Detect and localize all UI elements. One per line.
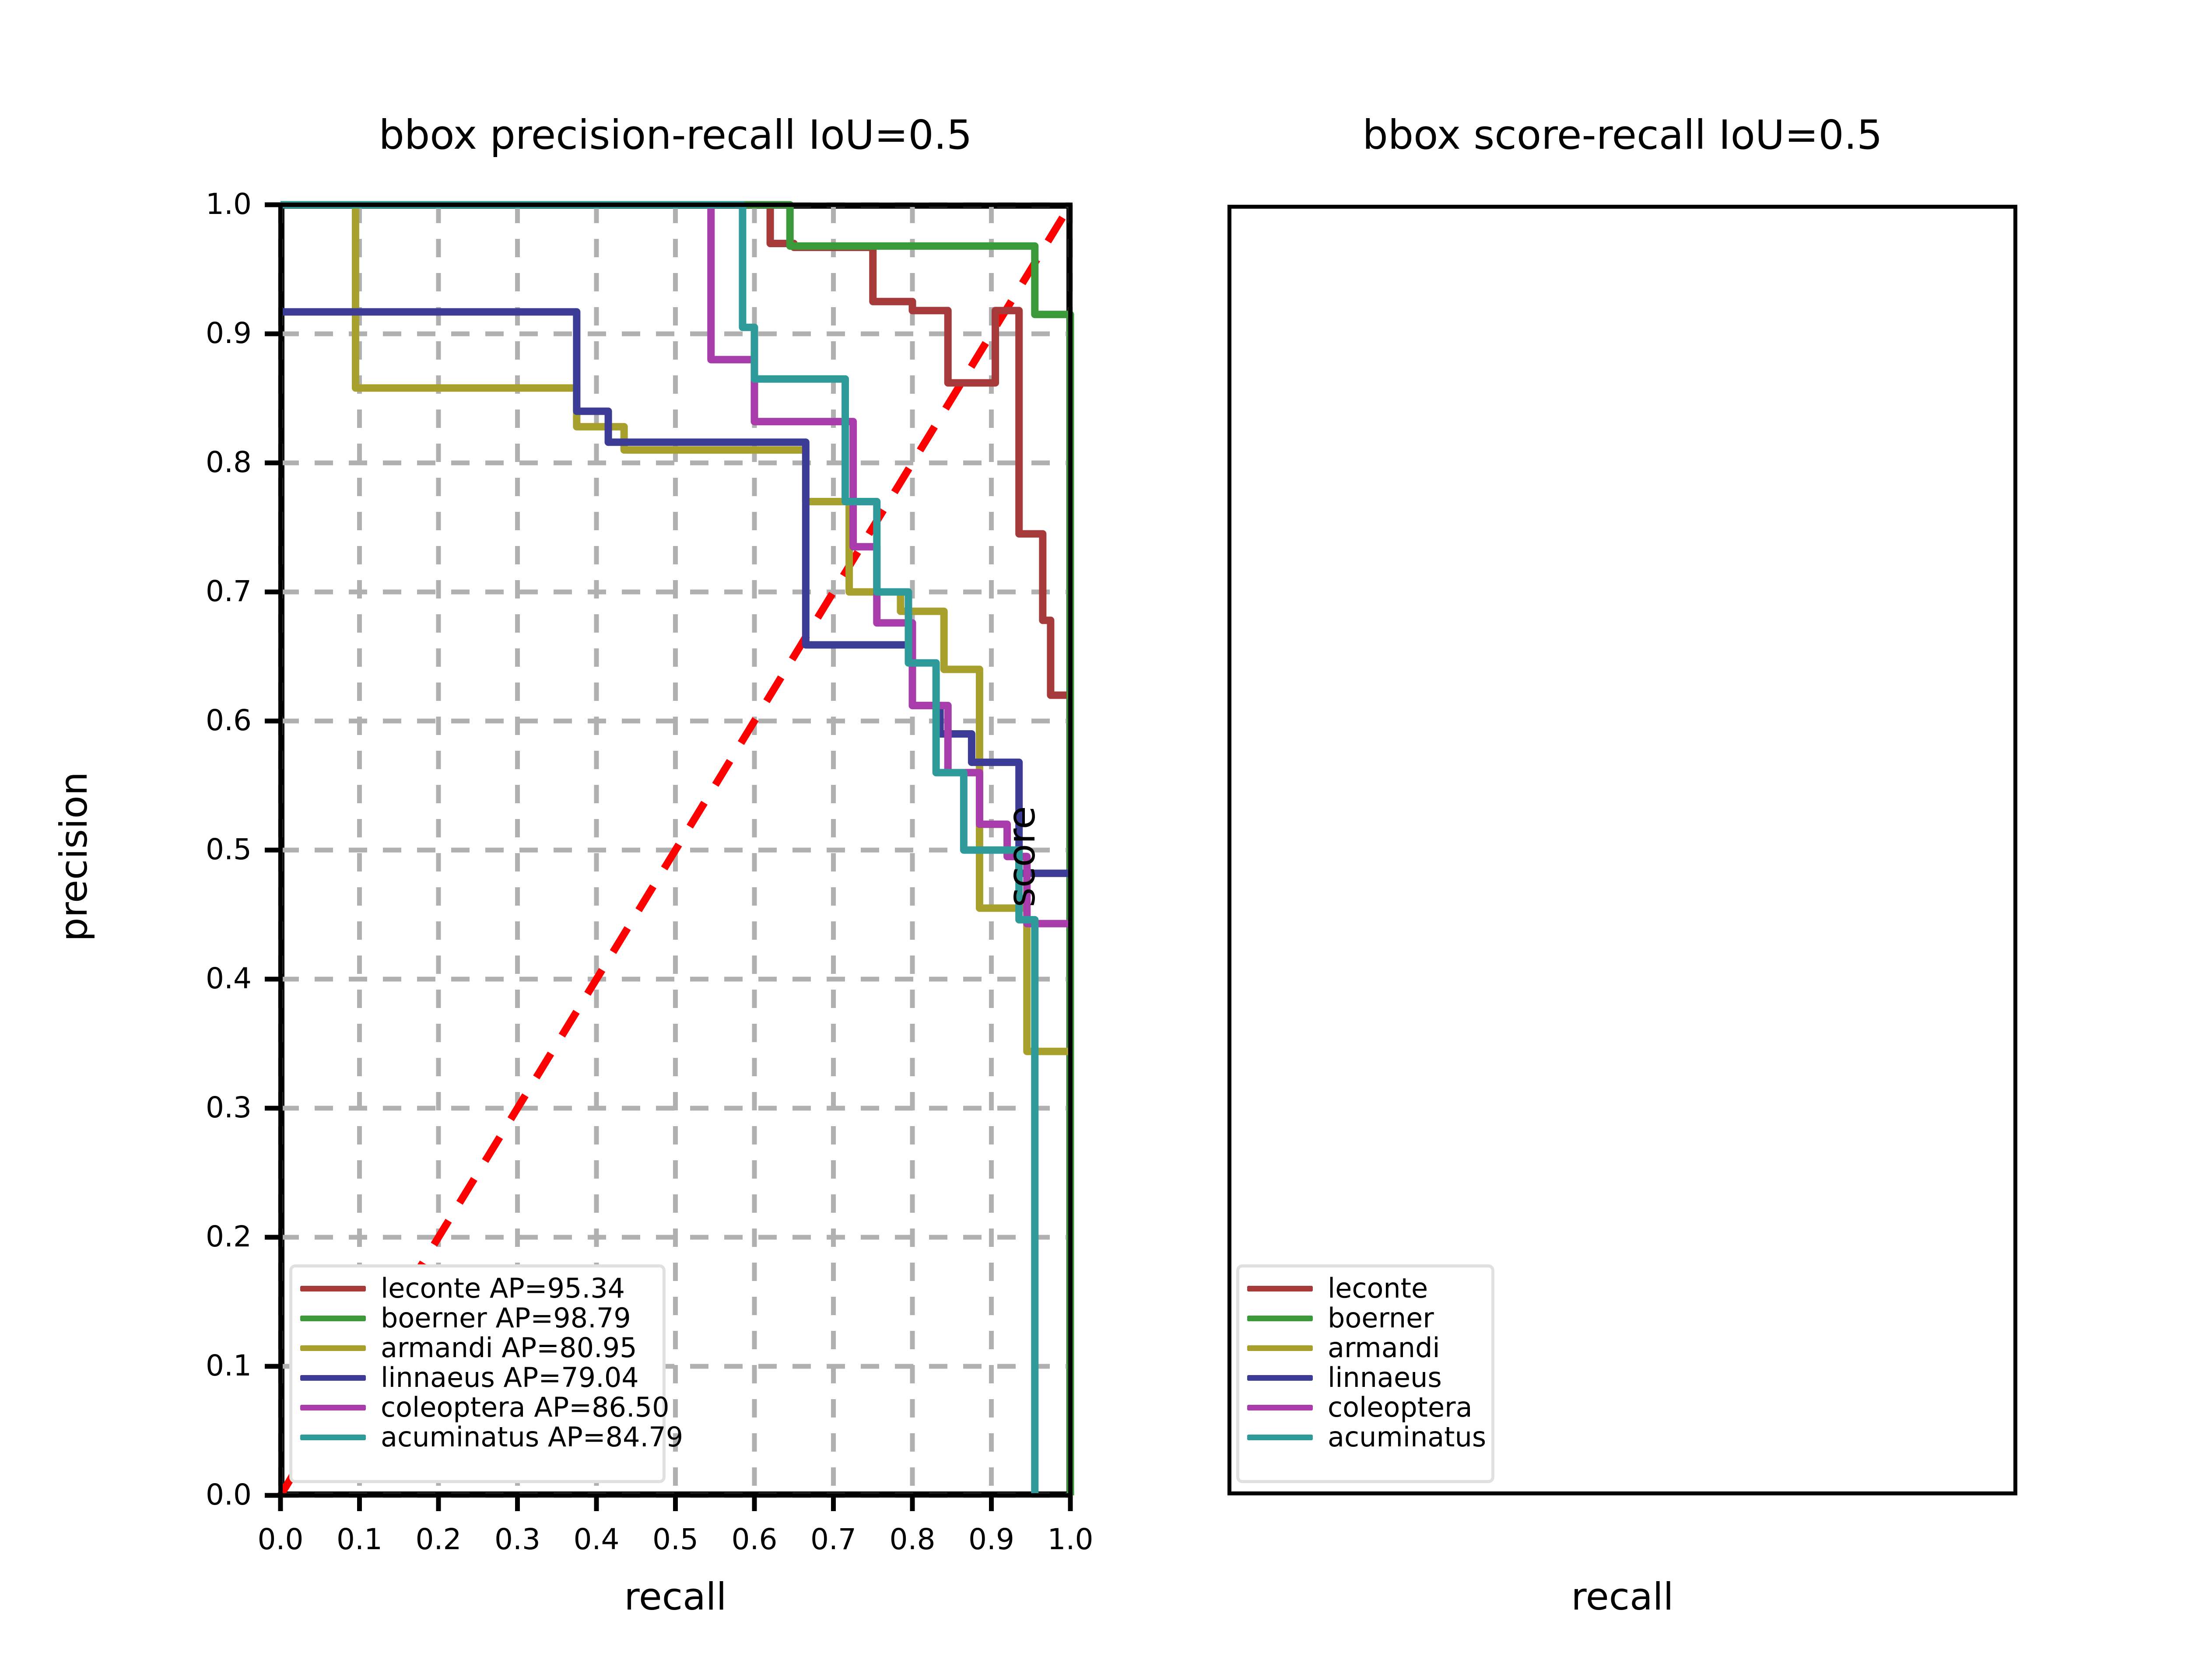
y-tick-label: 0.8 <box>164 445 252 479</box>
legend-swatch-coleoptera <box>300 1405 366 1410</box>
legend-item[interactable]: linnaeus AP=79.04 <box>300 1363 653 1393</box>
legend-swatch-leconte <box>1247 1286 1313 1291</box>
legend-label-leconte: leconte <box>1328 1275 1428 1302</box>
y-tick-label: 0.4 <box>164 962 252 995</box>
legend-item[interactable]: acuminatus <box>1247 1422 1482 1452</box>
legend-swatch-acuminatus <box>300 1435 366 1440</box>
legend-label-leconte: leconte AP=95.34 <box>381 1275 625 1302</box>
x-tick-label: 0.5 <box>632 1522 719 1556</box>
y-tick-label: 0.3 <box>164 1091 252 1124</box>
legend-swatch-armandi <box>1247 1345 1313 1351</box>
left-x-axis-label: recall <box>281 1575 1070 1619</box>
y-tick-label: 0.1 <box>164 1349 252 1382</box>
y-tick-label: 0.7 <box>164 574 252 608</box>
legend-item[interactable]: linnaeus <box>1247 1363 1482 1393</box>
legend-item[interactable]: armandi <box>1247 1333 1482 1363</box>
y-tick-label: 0.6 <box>164 703 252 737</box>
x-tick-label: 0.8 <box>869 1522 956 1556</box>
y-tick-label: 1.0 <box>164 187 252 221</box>
legend-label-boerner: boerner AP=98.79 <box>381 1305 631 1332</box>
panel-score-recall: bbox score-recall IoU=0.5 score recall l… <box>1120 0 2188 1680</box>
legend-label-coleoptera: coleoptera <box>1328 1394 1473 1421</box>
legend-label-linnaeus: linnaeus <box>1328 1364 1442 1391</box>
legend-swatch-leconte <box>300 1286 366 1291</box>
legend-swatch-coleoptera <box>1247 1405 1313 1410</box>
y-tick-label: 0.5 <box>164 833 252 866</box>
legend-item[interactable]: leconte AP=95.34 <box>300 1274 653 1303</box>
right-y-axis-label: score <box>1000 734 1044 979</box>
legend-item[interactable]: acuminatus AP=84.79 <box>300 1422 653 1452</box>
y-tick-label: 0.2 <box>164 1220 252 1253</box>
legend-item[interactable]: coleoptera <box>1247 1393 1482 1422</box>
legend-label-armandi: armandi <box>1328 1334 1440 1361</box>
legend-label-acuminatus: acuminatus <box>1328 1424 1486 1451</box>
x-tick-label: 1.0 <box>1027 1522 1114 1556</box>
x-tick-label: 0.9 <box>948 1522 1035 1556</box>
figure-canvas: bbox precision-recall IoU=0.5 precision … <box>0 0 2188 1680</box>
legend-item[interactable]: leconte <box>1247 1274 1482 1303</box>
legend-label-acuminatus: acuminatus AP=84.79 <box>381 1424 683 1451</box>
legend-label-boerner: boerner <box>1328 1305 1434 1332</box>
x-tick-label: 0.2 <box>395 1522 482 1556</box>
legend-swatch-acuminatus <box>1247 1435 1313 1440</box>
left-y-axis-label: precision <box>52 734 96 979</box>
x-tick-label: 0.4 <box>553 1522 640 1556</box>
legend-swatch-boerner <box>300 1316 366 1321</box>
right-legend: leconte boerner armandi linnaeus coleopt… <box>1236 1264 1494 1483</box>
left-legend: leconte AP=95.34 boerner AP=98.79 armand… <box>289 1264 666 1483</box>
legend-swatch-linnaeus <box>1247 1375 1313 1381</box>
x-tick-label: 0.0 <box>237 1522 324 1556</box>
legend-swatch-armandi <box>300 1345 366 1351</box>
legend-label-armandi: armandi AP=80.95 <box>381 1334 637 1361</box>
legend-item[interactable]: boerner AP=98.79 <box>300 1303 653 1333</box>
legend-label-coleoptera: coleoptera AP=86.50 <box>381 1394 670 1421</box>
legend-item[interactable]: boerner <box>1247 1303 1482 1333</box>
legend-swatch-boerner <box>1247 1316 1313 1321</box>
panel-precision-recall: bbox precision-recall IoU=0.5 precision … <box>0 0 1120 1680</box>
x-tick-label: 0.1 <box>316 1522 403 1556</box>
legend-item[interactable]: armandi AP=80.95 <box>300 1333 653 1363</box>
legend-item[interactable]: coleoptera AP=86.50 <box>300 1393 653 1422</box>
y-tick-label: 0.9 <box>164 316 252 350</box>
legend-label-linnaeus: linnaeus AP=79.04 <box>381 1364 639 1391</box>
y-tick-label: 0.0 <box>164 1478 252 1512</box>
legend-swatch-linnaeus <box>300 1375 366 1381</box>
x-tick-label: 0.3 <box>474 1522 561 1556</box>
x-tick-label: 0.6 <box>711 1522 798 1556</box>
right-x-axis-label: recall <box>1227 1575 2017 1619</box>
x-tick-label: 0.7 <box>790 1522 877 1556</box>
